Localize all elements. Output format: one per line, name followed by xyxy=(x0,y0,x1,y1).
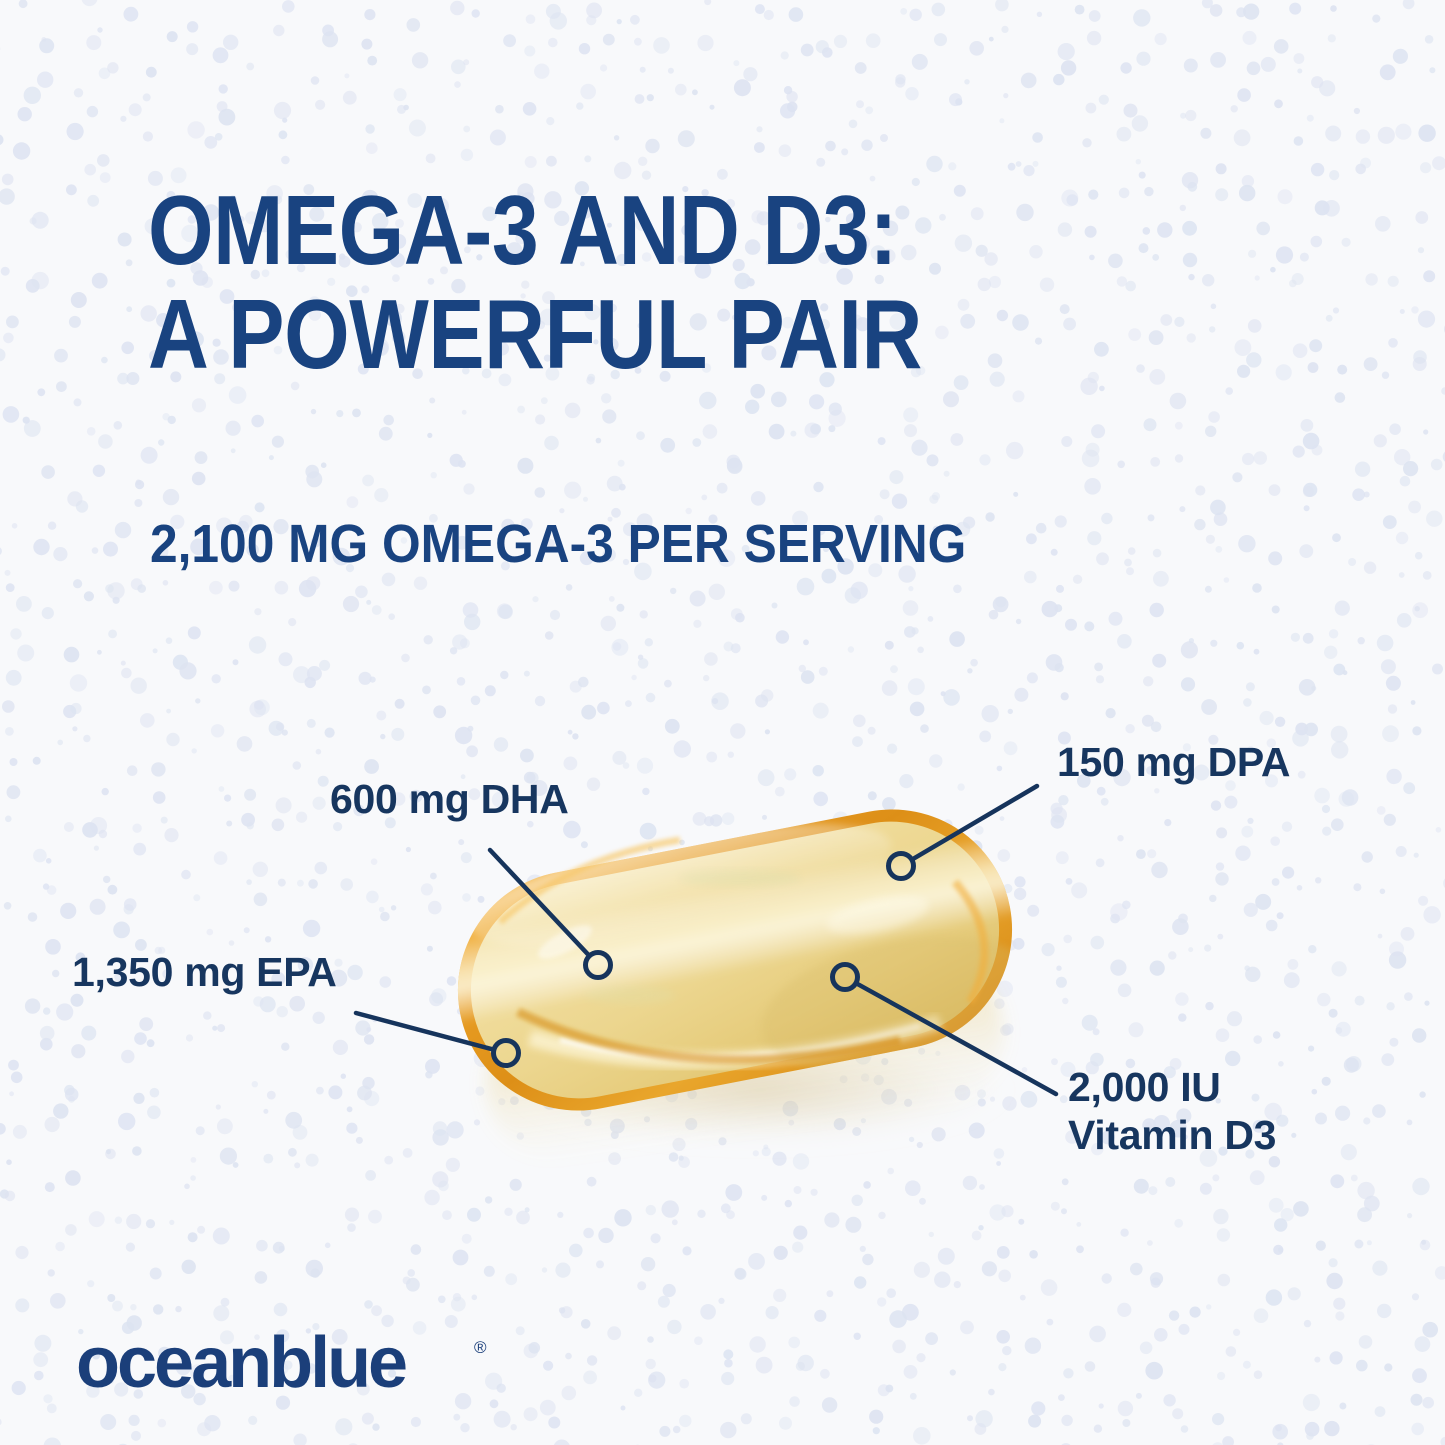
softgel-capsule-image xyxy=(380,790,1080,1190)
callout-label-vitamin-d3: 2,000 IU Vitamin D3 xyxy=(1068,1063,1276,1159)
callout-dpa-text: 150 mg DPA xyxy=(1057,739,1290,785)
callout-label-epa: 1,350 mg EPA xyxy=(72,948,337,996)
callout-d3-line-2: Vitamin D3 xyxy=(1068,1111,1276,1159)
headline-line-1: OMEGA-3 AND D3: xyxy=(148,178,922,282)
page-title: OMEGA-3 AND D3: A POWERFUL PAIR xyxy=(148,178,922,386)
callout-epa-text: 1,350 mg EPA xyxy=(72,949,337,995)
callout-label-dha: 600 mg DHA xyxy=(330,775,569,823)
headline-line-2: A POWERFUL PAIR xyxy=(148,282,922,386)
oceanblue-logo: oceanblue ® xyxy=(76,1327,496,1405)
callout-d3-line-1: 2,000 IU xyxy=(1068,1063,1276,1111)
registered-trademark-icon: ® xyxy=(474,1338,487,1357)
subtitle: 2,100 MG OMEGA-3 PER SERVING xyxy=(150,514,966,574)
logo-wordmark: oceanblue xyxy=(76,1327,406,1403)
callout-label-dpa: 150 mg DPA xyxy=(1057,738,1290,786)
callout-dha-text: 600 mg DHA xyxy=(330,776,569,822)
infographic-canvas: OMEGA-3 AND D3: A POWERFUL PAIR 2,100 MG… xyxy=(0,0,1445,1445)
